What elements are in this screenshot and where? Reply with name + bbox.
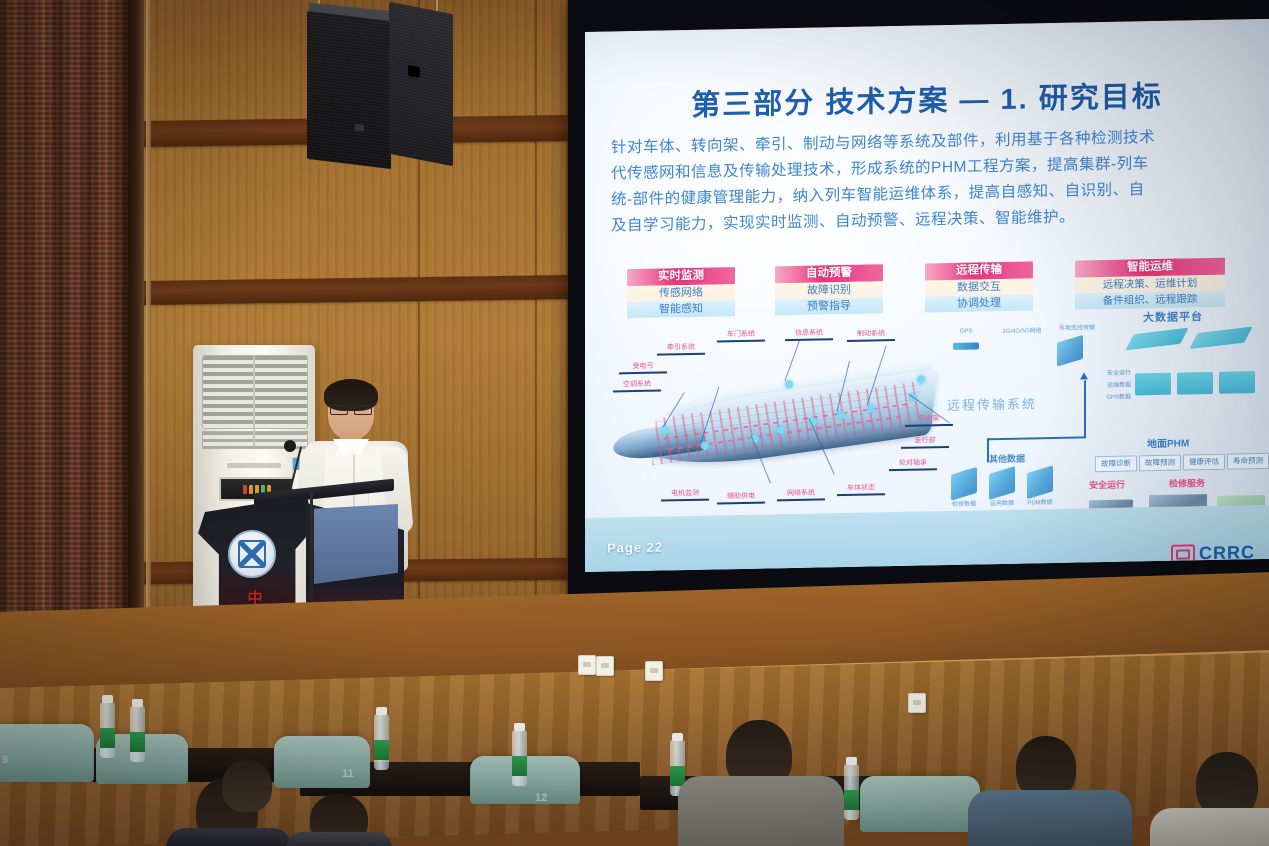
audience-member-shoulders <box>968 790 1132 846</box>
data-cube-icon <box>989 466 1015 500</box>
seat[interactable] <box>860 776 980 832</box>
capability-box-header: 实时监测 <box>627 267 735 286</box>
flow-arrow-vertical <box>987 438 989 462</box>
train-callout-label: 网络系统 <box>787 490 815 498</box>
train-callout-label: 走行部 <box>915 437 936 444</box>
slide-page-number: Page 22 <box>607 539 663 555</box>
train-callout: 网络系统 <box>777 487 825 501</box>
capability-box-line2: 预警指导 <box>775 297 883 315</box>
train-callout-label: 空调系统 <box>623 381 651 389</box>
ceiling-hung-loudspeaker <box>307 8 453 168</box>
train-callout: 辅助供电 <box>717 491 765 505</box>
data-cube-label: 检修数据 <box>947 498 981 508</box>
speaker-badge <box>355 123 364 131</box>
callout-leader <box>785 339 801 381</box>
bigdata-platform-title: 大数据平台 <box>1143 308 1203 325</box>
capability-box-smart-ops: 智能运维 远程决策、运维计划 备件组织、远程跟踪 <box>1075 258 1225 310</box>
train-callout-label: 牵引系统 <box>667 344 695 352</box>
train-callout: 制动系统 <box>847 328 895 342</box>
data-cube-label: PDM数据 <box>1023 497 1057 507</box>
train-callout-label: 受电弓 <box>633 363 654 370</box>
remote-node-label: 车地无线传输 <box>1055 322 1099 332</box>
flow-arrow-horizontal <box>987 436 1085 439</box>
wall-outlet <box>645 661 663 681</box>
train-callout: 牵引系统 <box>657 342 705 356</box>
pink-label: 检修服务 <box>1169 478 1205 490</box>
ac-vent-grille <box>202 355 308 429</box>
speaker-side-panel <box>389 2 453 166</box>
platform-slab <box>1189 326 1252 349</box>
slide-body-text: 针对车体、转向架、牵引、制动与网络等系统及部件，利用基于各种检测技术 代传感网和… <box>611 123 1269 240</box>
train-callout-label: 轮对轴承 <box>899 459 927 467</box>
curtain-weave <box>0 0 128 712</box>
bigdata-left-label: GPS数据 <box>1091 392 1131 402</box>
audience-member-shoulders <box>1150 808 1269 846</box>
seat-number: 12 <box>535 792 547 804</box>
water-bottle <box>512 730 527 786</box>
other-data-label: 其他数据 <box>989 452 1025 466</box>
water-bottle <box>374 714 389 770</box>
audience-member-shoulders <box>286 832 392 846</box>
capability-box-auto-warning: 自动预警 故障识别 预警指导 <box>775 264 883 315</box>
train-callout-label: 制动系统 <box>857 330 885 338</box>
audience-member-shoulders <box>166 828 292 846</box>
capability-box-line2: 智能感知 <box>627 300 735 318</box>
phm-chip: 故障诊断 <box>1095 455 1137 472</box>
phm-chip: 故障预测 <box>1139 455 1181 472</box>
train-callout-label: 电机监测 <box>671 490 699 498</box>
train-callout: 空调系统 <box>613 379 661 393</box>
wall-outlet <box>596 656 614 676</box>
platform-slab <box>1125 328 1188 351</box>
train-callout-label: 信息系统 <box>795 329 823 337</box>
flow-arrow-tip <box>1080 372 1088 379</box>
capability-box-header: 远程传输 <box>925 261 1033 280</box>
train-callout-label: 车门系统 <box>727 331 755 339</box>
seat-number: 11 <box>342 768 354 780</box>
university-emblem-icon <box>228 530 276 578</box>
audience-seating: 9 11 12 <box>0 700 1269 846</box>
glasses-icon <box>330 405 372 413</box>
remote-transmission-title: 远程传输系统 <box>947 393 1037 414</box>
bigdata-left-label: 安全运行 <box>1091 368 1131 378</box>
server-cube-icon <box>1057 335 1083 367</box>
data-cube-icon <box>951 467 977 501</box>
projection-screen: 第三部分 技术方案 — 1. 研究目标 针对车体、转向架、牵引、制动与网络等系统… <box>585 19 1269 572</box>
train-callout-label: 辅助供电 <box>727 493 755 501</box>
capability-box-header: 自动预警 <box>775 264 883 283</box>
emblem-inner-mark <box>238 540 266 568</box>
speaker-front-grille <box>307 11 391 169</box>
phm-chip: 寿命预测 <box>1227 453 1269 470</box>
water-bottle <box>100 702 115 758</box>
curtain-edge <box>128 0 144 712</box>
presentation-slide: 第三部分 技术方案 — 1. 研究目标 针对车体、转向架、牵引、制动与网络等系统… <box>585 19 1269 572</box>
ac-brand-plate <box>227 463 281 468</box>
flow-arrow-vertical <box>1084 380 1086 438</box>
remote-node-label: GPS <box>951 328 981 335</box>
audience-member-shoulders <box>678 776 844 846</box>
bigdata-left-label: 运维数据 <box>1091 380 1131 390</box>
capability-box-remote-transmission: 远程传输 数据交互 协调处理 <box>925 261 1033 312</box>
platform-tile <box>1135 373 1171 396</box>
capability-box-line2: 协调处理 <box>925 294 1033 312</box>
train-cutaway-diagram: 受电弓 空调系统 牵引系统 车门系统 信息系统 制动系统 转向架 走行部 轮对轴… <box>605 325 965 522</box>
data-cube-label: 运用数据 <box>985 498 1019 508</box>
platform-tile <box>1177 372 1213 395</box>
train-callout: 信息系统 <box>785 327 833 341</box>
capability-box-line2: 备件组织、远程跟踪 <box>1075 291 1225 310</box>
train-callout: 轮对轴承 <box>889 457 937 471</box>
wall-outlet <box>578 655 596 675</box>
satellite-icon <box>953 342 979 349</box>
wall-seam <box>535 0 537 640</box>
train-callout: 受电弓 <box>619 360 667 374</box>
platform-tile <box>1219 371 1255 394</box>
train-callout-label: 车体状态 <box>847 484 875 492</box>
lectern-blue-pad <box>314 504 398 584</box>
microphone-icon <box>284 440 296 452</box>
capability-box-realtime-monitoring: 实时监测 传感网络 智能感知 <box>627 267 735 318</box>
water-bottle <box>130 706 145 762</box>
audience-member-head <box>222 760 272 812</box>
speaker-port-icon <box>408 65 420 78</box>
ac-vent-divider <box>253 355 255 447</box>
seat[interactable] <box>0 724 94 782</box>
ground-phm-title: 地面PHM <box>1147 434 1189 450</box>
train-callout: 电机监测 <box>661 488 709 502</box>
curtain-rod <box>146 0 151 690</box>
data-cube-icon <box>1027 465 1053 499</box>
train-callout: 车体状态 <box>837 482 885 496</box>
remote-node-label: 2G/4G/5G网络 <box>995 325 1049 335</box>
water-bottle <box>844 764 859 820</box>
phm-chip: 健康评估 <box>1183 454 1225 471</box>
train-callout: 车门系统 <box>717 329 765 343</box>
seat[interactable] <box>274 736 370 788</box>
conference-hall-photo: 第三部分 技术方案 — 1. 研究目标 针对车体、转向架、牵引、制动与网络等系统… <box>0 0 1269 846</box>
pink-label: 安全运行 <box>1089 480 1125 492</box>
stage-curtain <box>0 0 128 712</box>
seat-number: 9 <box>2 754 8 766</box>
slide-title: 第三部分 技术方案 — 1. 研究目标 <box>585 71 1269 126</box>
